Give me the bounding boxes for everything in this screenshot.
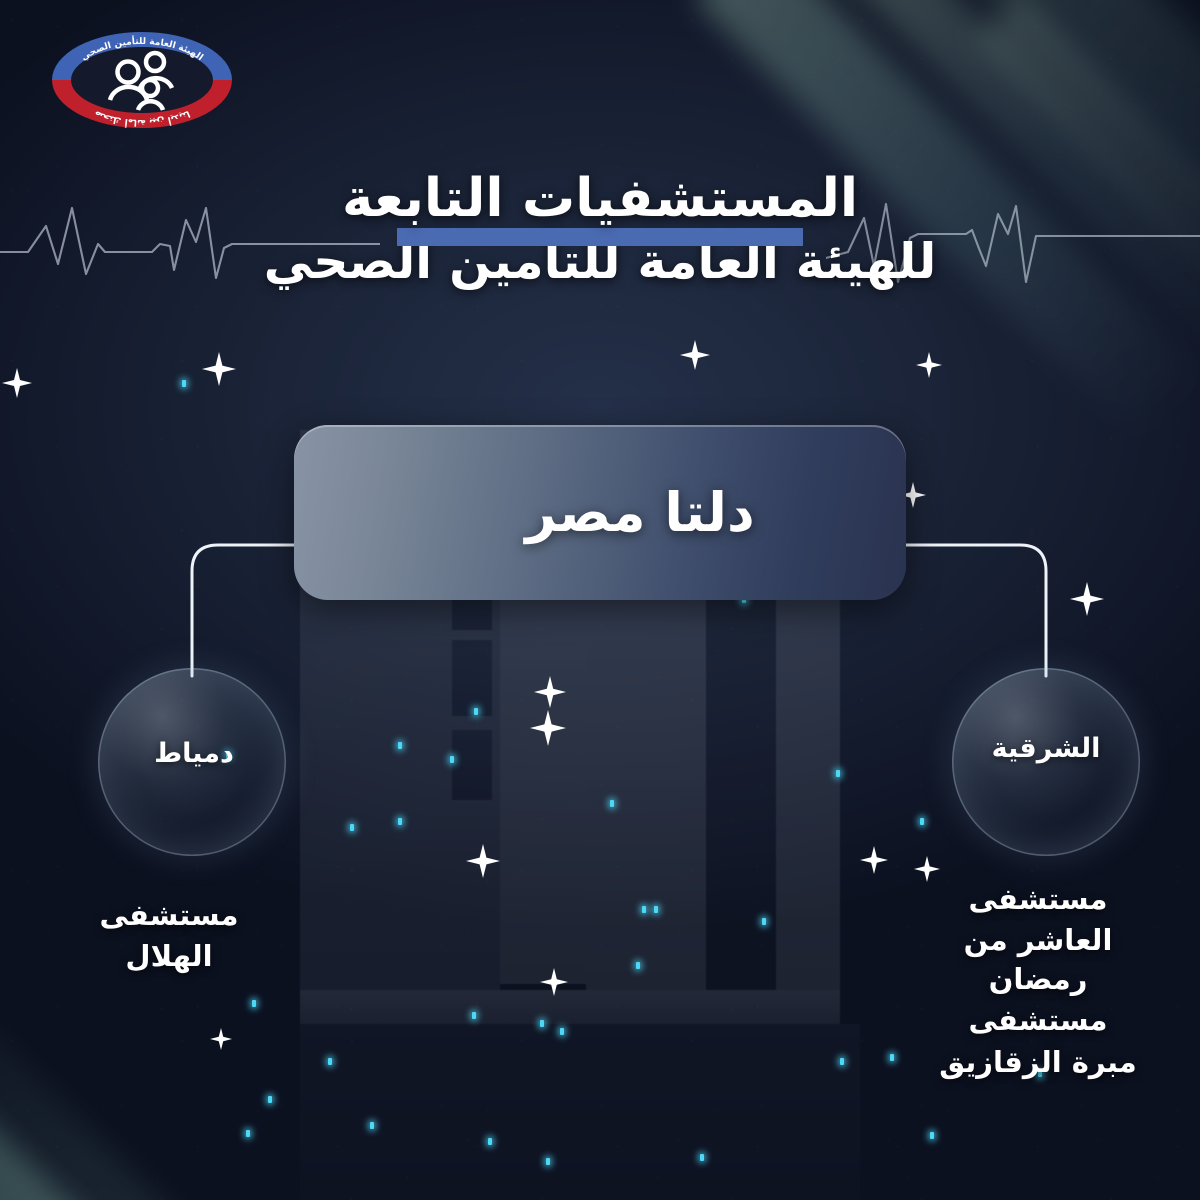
organization-logo: الهيئة العامة للتأمين الصحي صحتك أمانة ب… <box>44 26 240 134</box>
infographic-poster: الهيئة العامة للتأمين الصحي صحتك أمانة ب… <box>0 0 1200 1200</box>
page-title: المستشفيات التابعة للهيئة العامة للتأمين… <box>0 172 1200 286</box>
hospital-list-item: الهلال <box>74 937 264 976</box>
hospital-list-sharqia: مستشفى العاشر من رمضان مستشفى مبرة الزقا… <box>932 880 1144 1082</box>
sparkle-icon <box>1070 582 1104 616</box>
sparkle-icon <box>860 846 888 874</box>
hospital-list-item: العاشر من رمضان <box>932 921 1144 999</box>
hospital-list-item: مستشفى <box>932 1001 1144 1040</box>
hospital-list-damietta: مستشفى الهلال <box>74 896 264 976</box>
sparkle-icon <box>530 710 566 746</box>
category-card-title: دلتا مصر <box>525 481 754 544</box>
branch-label: الشرقية <box>992 733 1101 764</box>
sparkle-icon <box>680 340 710 370</box>
sparkle-icon <box>466 844 500 878</box>
sparkle-icon <box>202 352 236 386</box>
sparkle-icon <box>2 368 32 398</box>
sparkle-icon <box>540 968 568 996</box>
title-highlight-bar <box>397 228 803 246</box>
sparkle-icon <box>210 1028 232 1050</box>
hospital-list-item: مستشفى <box>74 896 264 935</box>
branch-label: دمياط <box>154 738 234 769</box>
branch-bubble-damietta[interactable]: دمياط <box>98 668 286 856</box>
branch-bubble-sharqia[interactable]: الشرقية <box>952 668 1140 856</box>
hospital-list-item: مستشفى <box>932 880 1144 919</box>
hospital-list-item: مبرة الزقازيق <box>932 1043 1144 1082</box>
sparkle-icon <box>534 676 566 708</box>
sparkle-icon <box>916 352 942 378</box>
sparkle-icon <box>914 856 940 882</box>
title-line-1: المستشفيات التابعة <box>342 172 858 225</box>
category-card[interactable]: دلتا مصر <box>294 425 906 600</box>
